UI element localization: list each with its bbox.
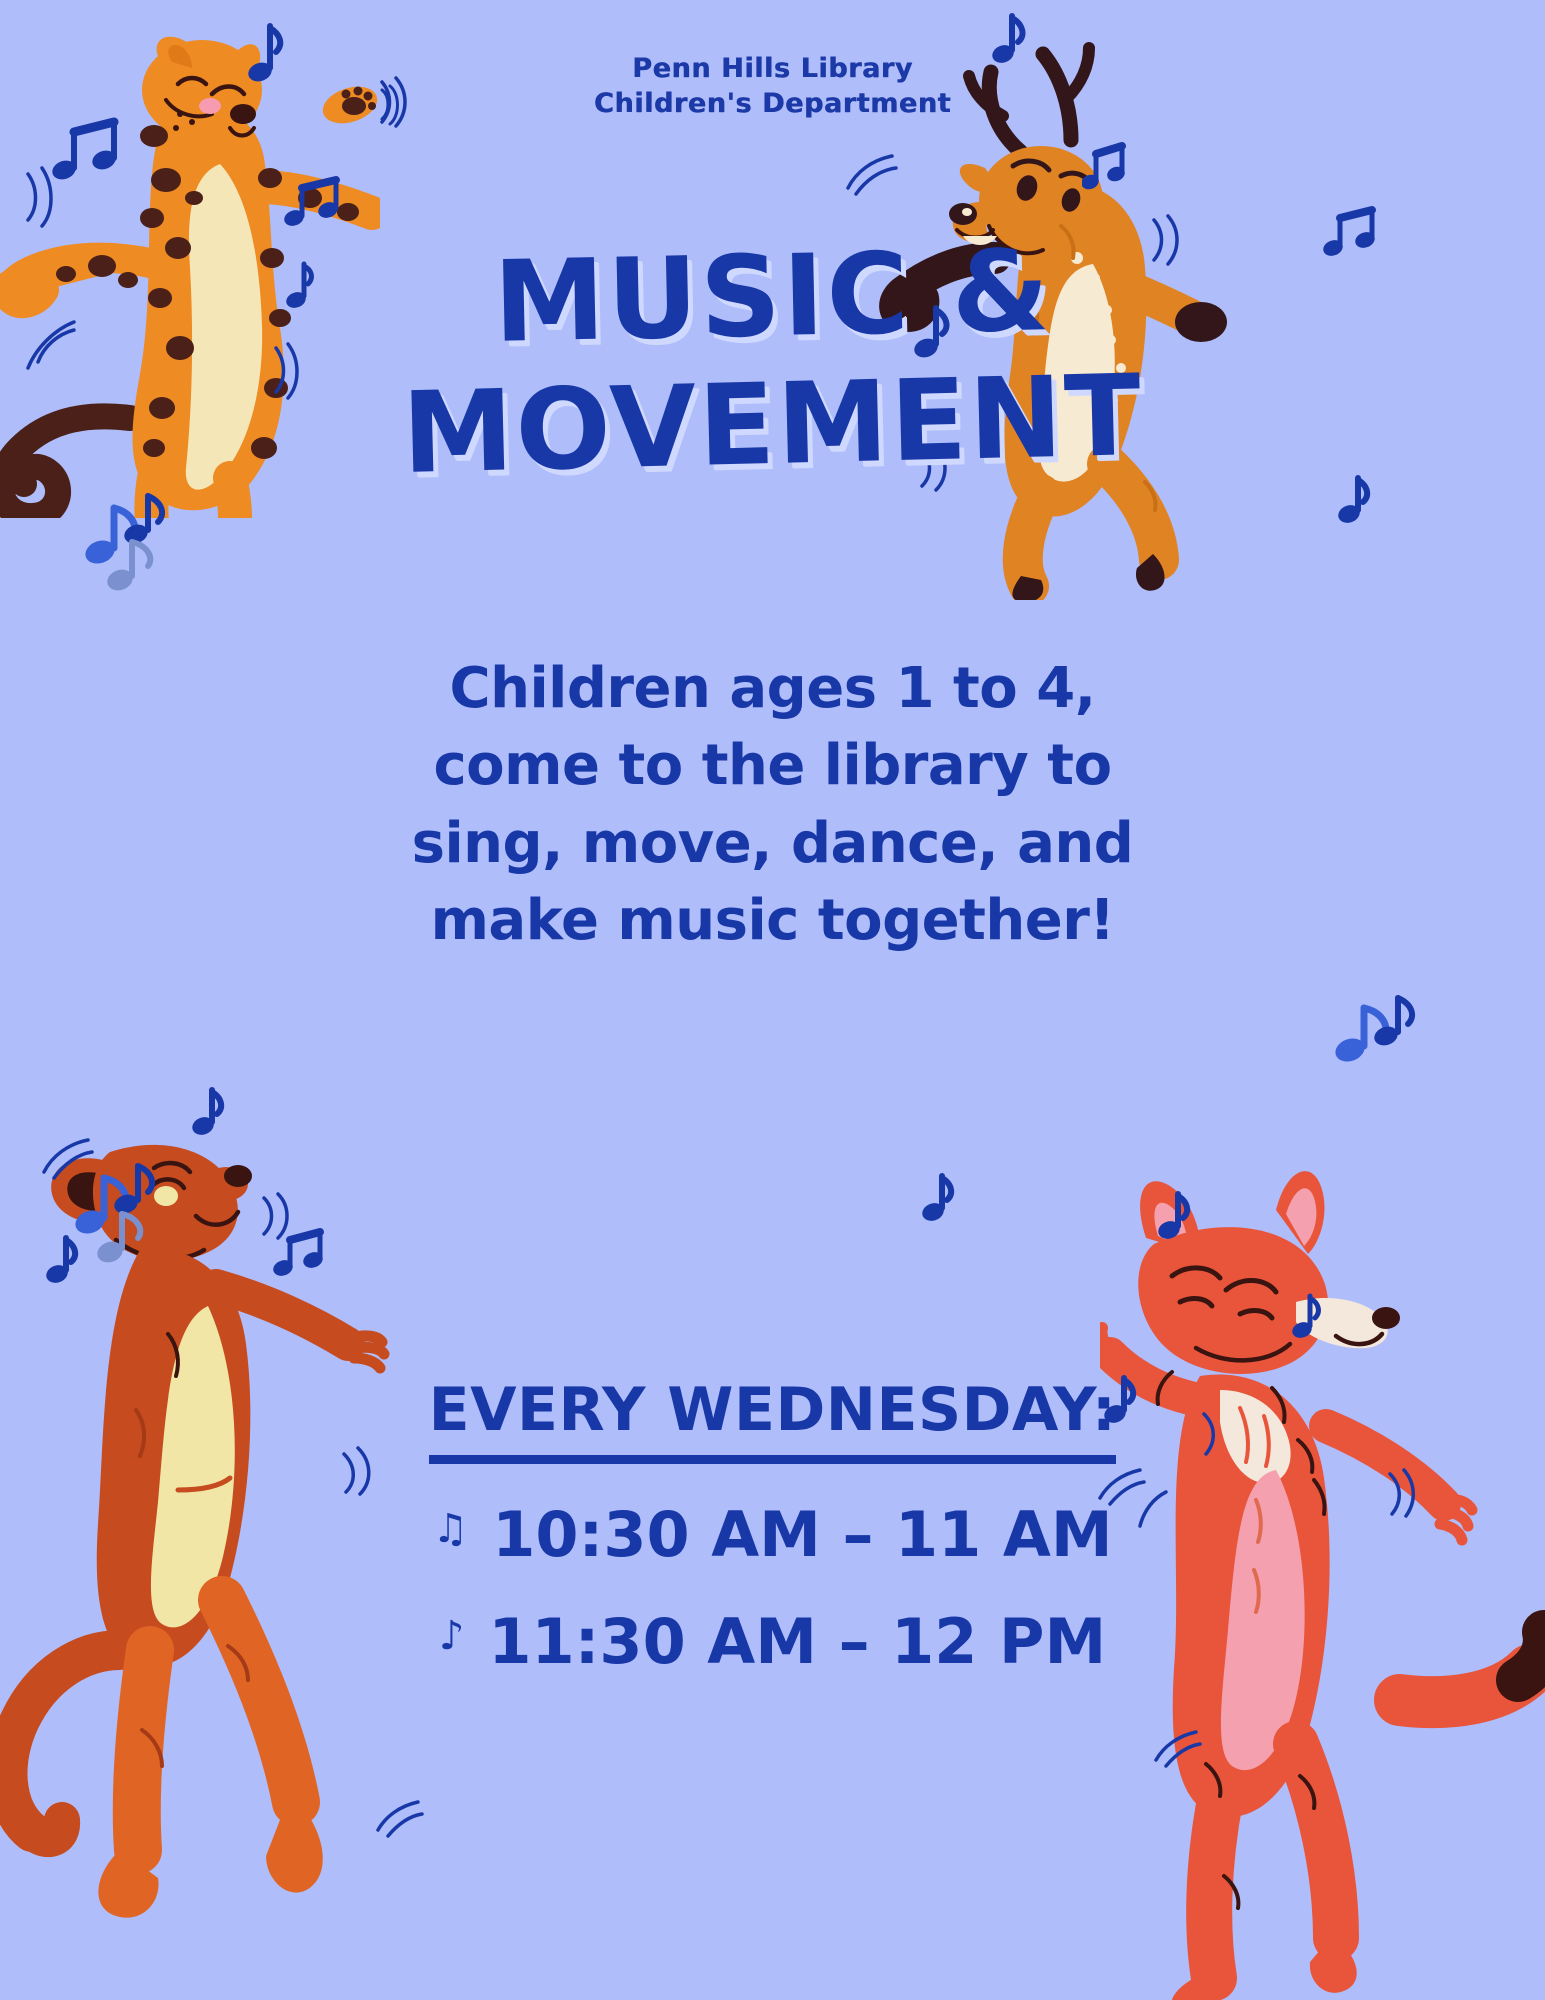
music-note-icon — [38, 1230, 82, 1292]
body-line-4: make music together! — [0, 882, 1545, 959]
motion-lines-icon — [8, 160, 54, 232]
body-line-3: sing, move, dance, and — [0, 805, 1545, 882]
music-note-icon — [62, 1160, 162, 1270]
header-line-department: Children's Department — [0, 87, 1545, 122]
session-time-2: 11:30 AM – 12 PM — [488, 1605, 1106, 1678]
music-note-icon: ♫ — [432, 1509, 468, 1549]
schedule-session-row: ♫ 10:30 AM – 11 AM — [0, 1498, 1545, 1571]
body-line-1: Children ages 1 to 4, — [0, 650, 1545, 727]
music-note-triple-icon — [72, 490, 172, 600]
music-note-icon — [1152, 1186, 1196, 1248]
title-line-music: MUSIC & — [0, 228, 1545, 367]
poster-header: Penn Hills Library Children's Department — [0, 52, 1545, 121]
music-note-double-icon — [52, 110, 128, 190]
music-note-icon — [916, 1168, 960, 1230]
schedule-heading: EVERY WEDNESDAY: — [429, 1375, 1117, 1464]
poster-canvas: Penn Hills Library Children's Department… — [0, 0, 1545, 2000]
poster-body: Children ages 1 to 4, come to the librar… — [0, 650, 1545, 959]
motion-lines-icon — [840, 140, 900, 200]
music-note-icon — [1082, 136, 1130, 198]
title-line-movement: MOVEMENT — [0, 354, 1545, 498]
schedule-session-row: ♪ 11:30 AM – 12 PM — [0, 1605, 1545, 1678]
music-note-icon — [1332, 470, 1374, 532]
header-line-library: Penn Hills Library — [0, 52, 1545, 87]
music-note-icon — [272, 1222, 328, 1284]
music-note-icon — [284, 172, 346, 234]
music-note-icon — [1286, 1290, 1326, 1348]
motion-lines-icon — [36, 1128, 96, 1186]
body-line-2: come to the library to — [0, 727, 1545, 804]
poster-schedule: EVERY WEDNESDAY: ♫ 10:30 AM – 11 AM ♪ 11… — [0, 1375, 1545, 1678]
motion-lines-icon — [370, 1790, 426, 1844]
motion-lines-icon — [1148, 1718, 1204, 1774]
poster-title: MUSIC & MOVEMENT — [0, 244, 1545, 479]
music-note-icon: ♪ — [439, 1616, 465, 1656]
session-time-1: 10:30 AM – 11 AM — [492, 1498, 1112, 1571]
motion-lines-icon — [250, 1188, 298, 1244]
music-note-icon — [1324, 990, 1424, 1090]
music-note-icon — [186, 1082, 230, 1144]
